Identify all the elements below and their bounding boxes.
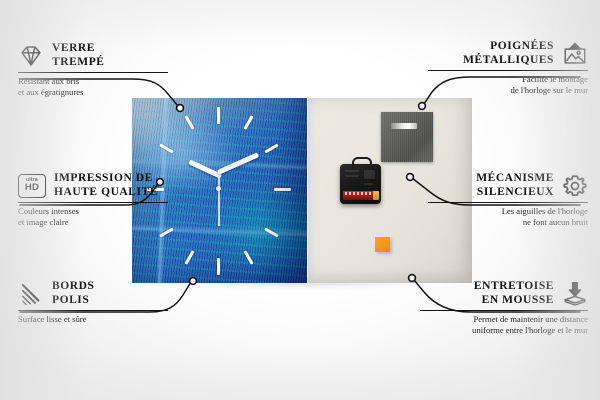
hour-hand <box>188 159 222 178</box>
tick-11 <box>184 115 194 129</box>
callout-header: BORDS POLIS <box>18 280 168 307</box>
hanger-slot <box>391 123 417 129</box>
clock-mechanism <box>340 164 381 204</box>
tick-5 <box>243 250 253 264</box>
callout-rule <box>18 310 168 311</box>
callout-title: IMPRESSION DE HAUTE QUALITÉ <box>54 172 158 199</box>
callout-poignees-metalliques[interactable]: POIGNÉES MÉTALLIQUES Facilite le montage… <box>428 40 588 96</box>
callout-rule <box>18 202 168 203</box>
tick-8 <box>159 227 173 237</box>
infographic-canvas: VERRE TREMPÉ Résistant aux bris et aux é… <box>0 0 600 400</box>
callout-bords-polis[interactable]: BORDS POLIS Surface lisse et sûre <box>18 280 168 325</box>
ultra-hd-bottom-text: HD <box>25 183 39 193</box>
battery <box>343 191 377 200</box>
callout-mecanisme-silencieux[interactable]: MÉCANISME SILENCIEUX Les aiguilles de l'… <box>428 172 588 228</box>
tick-12 <box>217 107 220 124</box>
callout-title: ENTRETOISE EN MOUSSE <box>474 280 554 307</box>
ultra-hd-badge-icon: ultra HD <box>18 174 46 198</box>
second-hand <box>218 176 220 226</box>
tick-1 <box>243 115 253 129</box>
callout-header: MÉCANISME SILENCIEUX <box>428 172 588 199</box>
battery-label <box>345 192 371 195</box>
foam-spacer <box>375 237 390 252</box>
callout-description: Surface lisse et sûre <box>18 314 168 325</box>
callout-rule <box>428 202 588 203</box>
diamond-icon <box>18 43 44 69</box>
callout-header: POIGNÉES MÉTALLIQUES <box>428 40 588 67</box>
gear-icon <box>562 173 588 199</box>
mechanism-hanger-loop <box>352 157 372 169</box>
mechanism-panel <box>364 170 375 179</box>
tick-6 <box>217 258 220 275</box>
callout-rule <box>428 70 588 71</box>
mechanism-vent-2 <box>345 175 359 177</box>
clock-hub <box>216 186 221 191</box>
callout-entretoise-en-mousse[interactable]: ENTRETOISE EN MOUSSE Permet de maintenir… <box>420 280 588 336</box>
metal-hanger-plate <box>381 112 433 162</box>
callout-title: MÉCANISME SILENCIEUX <box>476 172 554 199</box>
product-image <box>132 98 472 283</box>
callout-rule <box>420 310 588 311</box>
callout-rule <box>18 72 168 73</box>
mechanism-vent-1 <box>345 170 359 172</box>
callout-verre-trempe[interactable]: VERRE TREMPÉ Résistant aux bris et aux é… <box>18 42 168 98</box>
callout-impression-haute-qualite[interactable]: ultra HD IMPRESSION DE HAUTE QUALITÉ Cou… <box>18 172 168 228</box>
tick-4 <box>264 227 278 237</box>
callout-description: Les aiguilles de l'horloge ne font aucun… <box>428 206 588 227</box>
callout-header: VERRE TREMPÉ <box>18 42 168 69</box>
tick-7 <box>184 250 194 264</box>
callout-header: ENTRETOISE EN MOUSSE <box>420 280 588 307</box>
tick-2 <box>264 143 278 153</box>
hanging-picture-frame-icon <box>562 41 588 67</box>
tick-3 <box>274 188 291 191</box>
polished-edges-icon <box>18 281 44 307</box>
callout-description: Facilite le montage de l'horloge sur le … <box>428 74 588 95</box>
callout-title: BORDS POLIS <box>52 280 94 307</box>
callout-description: Couleurs intenses et image claire <box>18 206 168 227</box>
foam-spacer-arrow-icon <box>562 281 588 307</box>
tick-10 <box>159 143 173 153</box>
callout-description: Permet de maintenir une distance uniform… <box>420 314 588 335</box>
mechanism-vent-3 <box>364 183 373 185</box>
callout-header: ultra HD IMPRESSION DE HAUTE QUALITÉ <box>18 172 168 199</box>
callout-title: POIGNÉES MÉTALLIQUES <box>463 40 554 67</box>
callout-title: VERRE TREMPÉ <box>52 42 105 69</box>
minute-hand <box>217 152 259 174</box>
callout-description: Résistant aux bris et aux égratignures <box>18 76 168 97</box>
